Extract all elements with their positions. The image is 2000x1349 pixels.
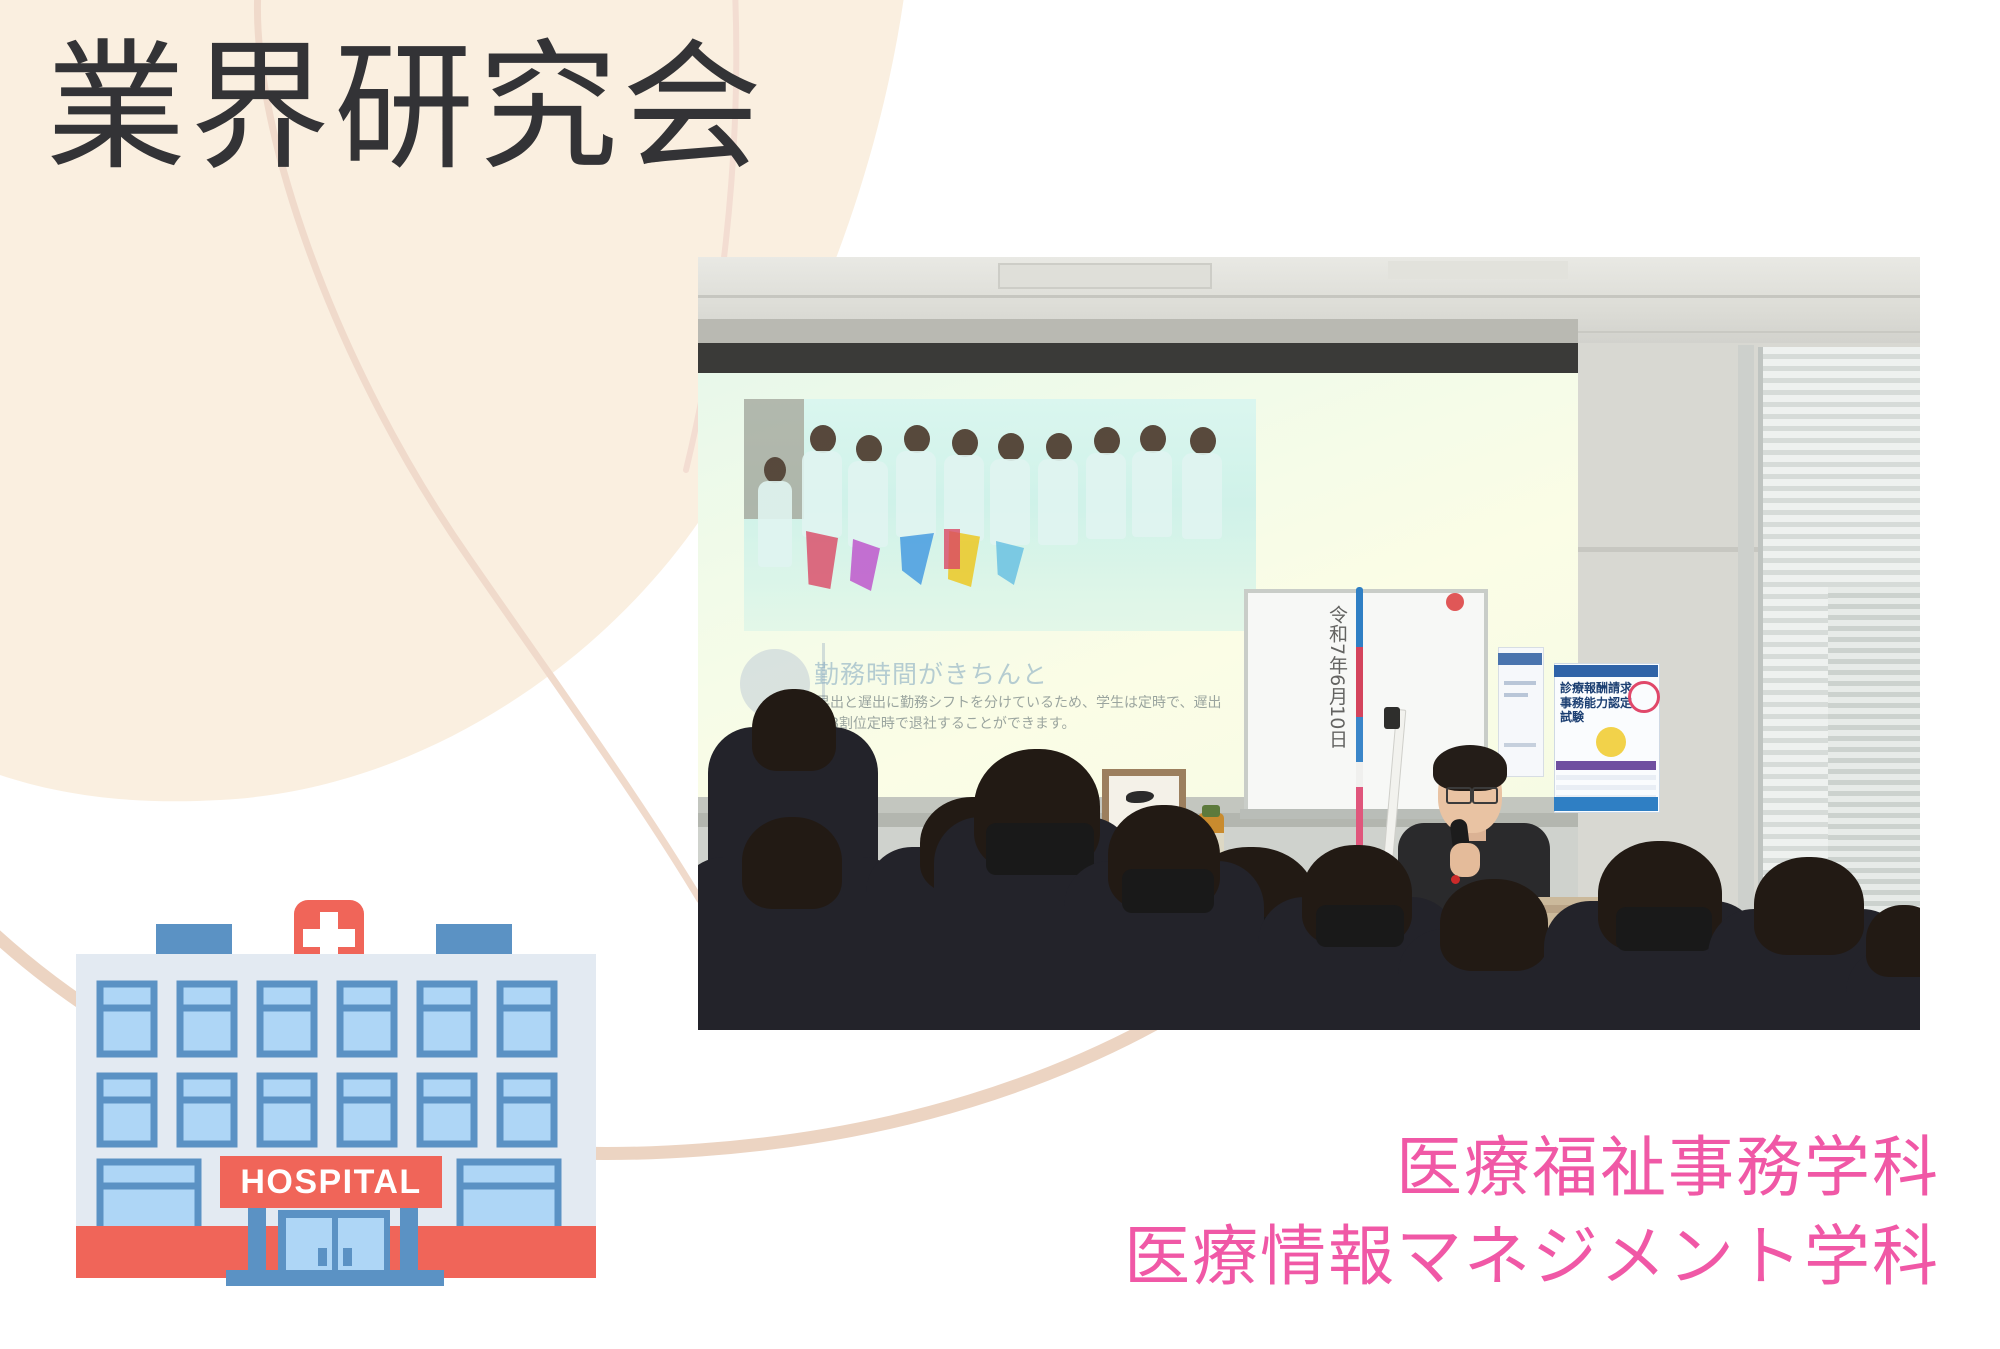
canopy-pillar-left (248, 1208, 266, 1270)
wall-poster-small (1498, 647, 1544, 777)
caption-line-1: 医療福祉事務学科 (1124, 1124, 1940, 1212)
window (500, 984, 554, 1054)
entrance-door-right (338, 1218, 384, 1276)
slide-body-text: 早出と遅出に勤務シフトを分けているため、学生は定時で、遅出も8割位定時で退社する… (816, 693, 1226, 735)
audience-hair-bow-7 (1316, 905, 1404, 947)
window (260, 984, 314, 1054)
audience-head-10 (1754, 857, 1864, 955)
event-photo: 勤務時間がきちんと 早出と遅出に勤務シフトを分けているため、学生は定時で、遅出も… (698, 257, 1920, 1030)
window (420, 1076, 474, 1144)
page-title: 業界研究会 (46, 28, 766, 189)
wall-poster-small-line-1 (1504, 681, 1536, 685)
audience-hair-bow-9 (1616, 907, 1712, 951)
wall-poster-exam-title: 診療報酬請求事務能力認定試験 (1560, 681, 1632, 725)
audience-head-8 (1440, 879, 1548, 971)
window (420, 984, 474, 1054)
window (500, 1076, 554, 1144)
drink-bottle-cap (1202, 805, 1220, 817)
wall-poster-small-line-3 (1504, 743, 1536, 747)
cross-icon-horizontal (303, 929, 355, 947)
canopy-pillar-right (400, 1208, 418, 1270)
roof-box-left (156, 924, 232, 954)
presenter-hand (1450, 843, 1480, 877)
roof-box-right (436, 924, 512, 954)
ceiling-vent-2 (1388, 261, 1568, 279)
door-handle-left (318, 1248, 327, 1266)
window (260, 1076, 314, 1144)
caption-line-2: 医療情報マネジメント学科 (1124, 1213, 1940, 1301)
microphone-indicator (1451, 875, 1460, 884)
wall-poster-exam-header (1554, 665, 1658, 677)
window (340, 1076, 394, 1144)
presenter-glasses-right (1472, 787, 1498, 804)
window (340, 984, 394, 1054)
screen-housing (698, 343, 1578, 373)
whiteboard-date-text: 令和7年6月10日 (1312, 605, 1348, 748)
presenter-hair (1433, 745, 1507, 791)
entrance-door-left (286, 1218, 332, 1276)
wall-poster-exam-footer (1554, 797, 1658, 811)
presenter-glasses-left (1446, 787, 1472, 804)
whiteboard-magnet (1446, 593, 1464, 611)
door-handle-right (343, 1248, 352, 1266)
audience-hair-bow-6 (1122, 869, 1214, 913)
window (100, 984, 154, 1054)
marker-cap (1384, 707, 1400, 729)
hospital-illustration: HOSPITAL (60, 880, 620, 1295)
ceiling-seam (698, 295, 1920, 298)
audience-head-2 (742, 817, 842, 909)
poster-canvas: 業界研究会 (0, 0, 2000, 1349)
wall-poster-exam-badge (1596, 727, 1626, 757)
window-mullion (1738, 345, 1754, 945)
wall-poster-small-line-2 (1504, 693, 1528, 697)
window (180, 1076, 234, 1144)
hospital-sign-label: HOSPITAL (240, 1163, 421, 1201)
pointer-stick (1356, 587, 1363, 887)
window (180, 984, 234, 1054)
wall-poster-exam-seal (1628, 681, 1660, 713)
audience-head-1 (752, 689, 836, 771)
window (100, 1076, 154, 1144)
entrance-step (226, 1270, 444, 1286)
department-captions: 医療福祉事務学科 医療情報マネジメント学科 (1124, 1124, 1940, 1301)
audience-hair-bow-5 (986, 823, 1094, 875)
slide-photo (744, 399, 1256, 631)
wall-poster-exam-band (1556, 761, 1656, 770)
wall-poster-small-header (1498, 653, 1542, 665)
page-title-text: 業界研究会 (46, 28, 766, 189)
slide-heading: 勤務時間がきちんと (814, 655, 1194, 685)
audience-head-11 (1866, 905, 1920, 977)
screen-housing-upper (698, 319, 1578, 345)
ceiling-vent (998, 263, 1212, 289)
